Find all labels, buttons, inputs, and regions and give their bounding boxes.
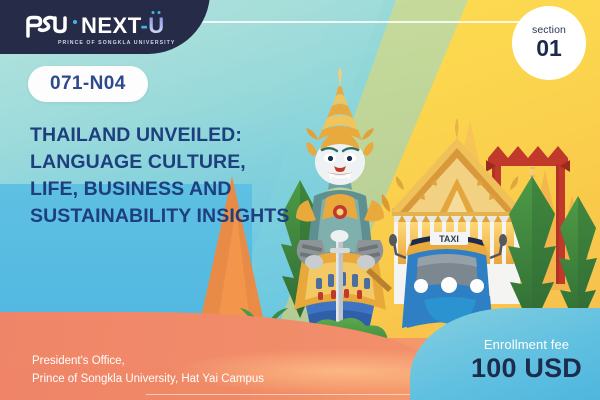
footer-line-1: President's Office,: [32, 353, 264, 370]
section-badge: section 01: [512, 6, 586, 80]
course-banner: TAXI: [0, 0, 600, 400]
section-label: section: [532, 25, 566, 36]
taxi-sign-text: TAXI: [439, 234, 459, 244]
footer-line-2: Prince of Songkla University, Hat Yai Ca…: [32, 371, 264, 388]
logo-u-wrap: U: [148, 15, 164, 37]
umlaut-icon: [152, 11, 161, 14]
course-title: THAILAND UNVEILED: LANGUAGE CULTURE, LIF…: [30, 122, 298, 230]
logo-dash: -: [140, 13, 148, 38]
logo-u-text: U: [148, 13, 164, 38]
logo-next-text: NEXT: [81, 13, 140, 38]
psu-next-u-logo[interactable]: NEXT-U PRINCE OF SONGKLA UNIVERSITY: [24, 14, 175, 46]
enrollment-fee-label: Enrollment fee: [471, 337, 582, 354]
logo-dot-icon: [73, 20, 77, 24]
footer-address: President's Office, Prince of Songkla Un…: [32, 353, 264, 388]
logo-row: NEXT-U: [24, 14, 165, 38]
logo-wordmark: NEXT-U: [81, 15, 165, 37]
enrollment-fee-badge: Enrollment fee 100 USD: [471, 337, 582, 384]
enrollment-fee-amount: 100 USD: [471, 354, 582, 384]
logo-subtitle: PRINCE OF SONGKLA UNIVERSITY: [58, 40, 175, 46]
section-number: 01: [536, 35, 562, 61]
psu-monogram-icon: [24, 14, 68, 38]
course-code-badge: 071-N04: [28, 66, 148, 102]
